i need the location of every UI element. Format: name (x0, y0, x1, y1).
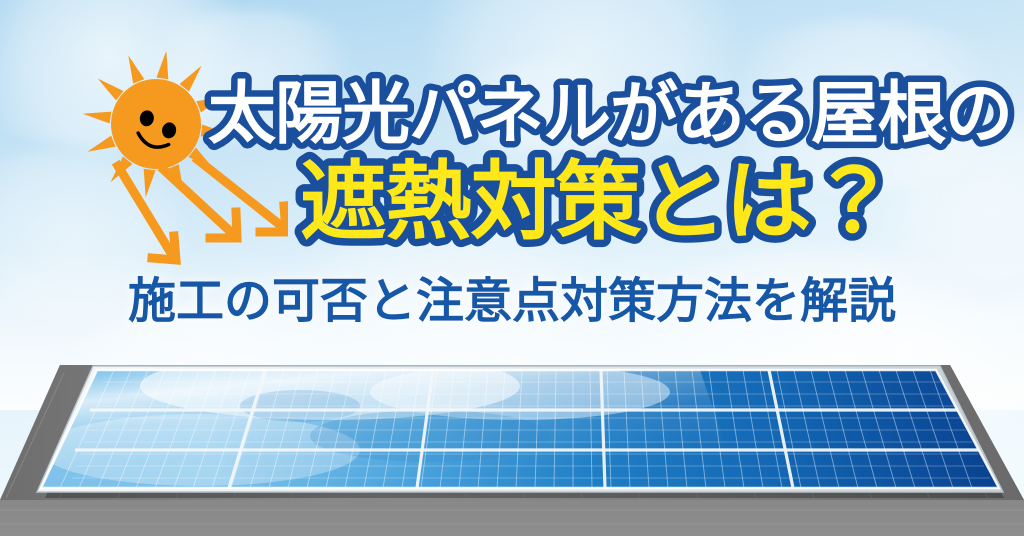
cloud-shape (700, 20, 1024, 190)
solar-panel-illustration (0, 340, 1024, 536)
sunlight-arrow-3-icon (198, 160, 286, 232)
headline-line-1: 太陽光パネルがある屋根の (208, 75, 1012, 154)
sun-disc-icon (111, 79, 201, 169)
sun-illustration (78, 52, 288, 272)
cloud-shape (850, 120, 1024, 280)
headline-line-2: 遮熱対策とは？ (301, 152, 896, 252)
headline-line-3: 施工の可否と注意点対策方法を解説 (128, 273, 896, 329)
cloud-shape (440, 60, 640, 170)
hero-banner: 太陽光パネルがある屋根の 遮熱対策とは？ 施工の可否と注意点対策方法を解説 (0, 0, 1024, 536)
cloud-shape (380, 0, 780, 150)
